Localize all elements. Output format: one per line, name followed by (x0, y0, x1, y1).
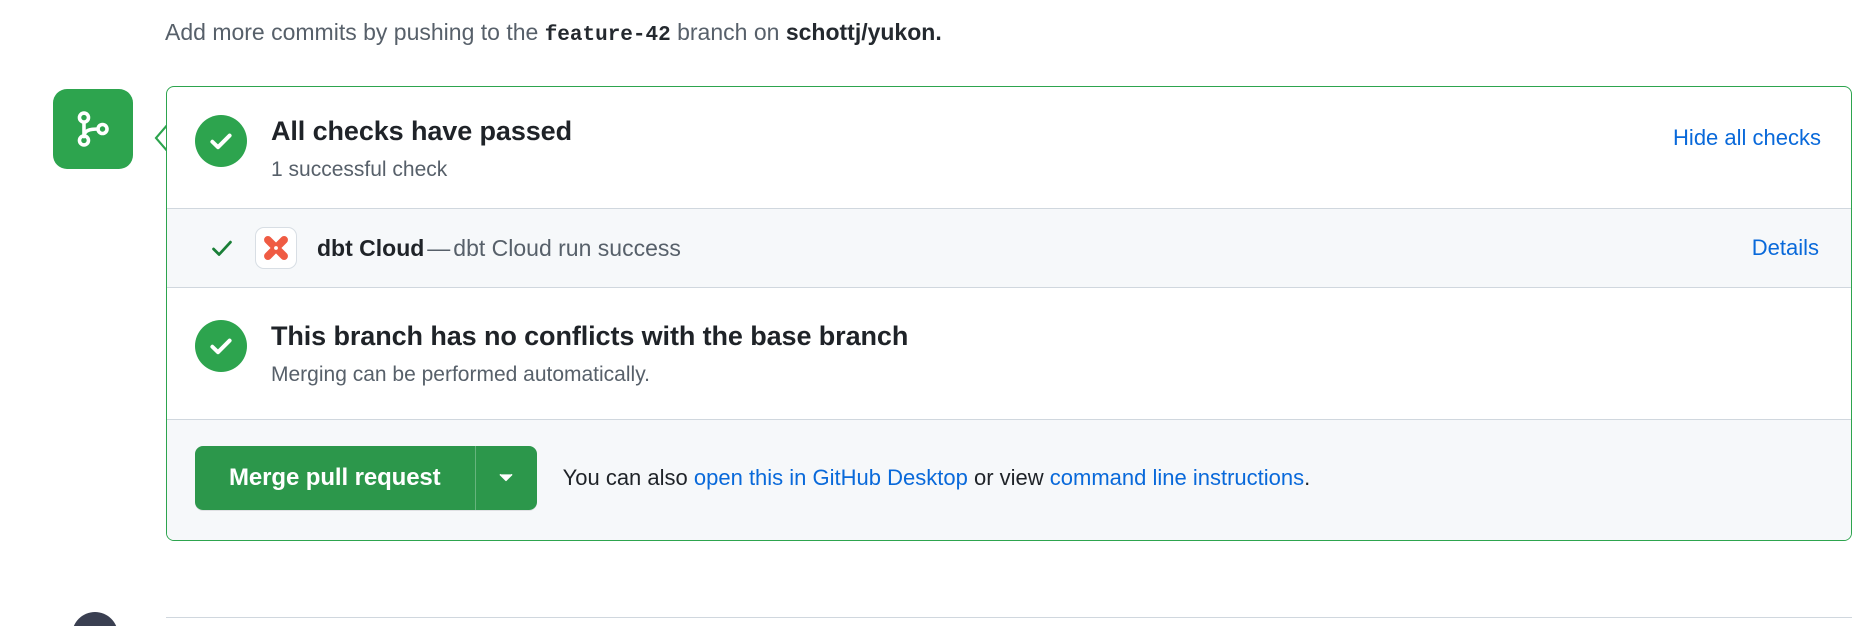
merge-dropdown-button[interactable] (475, 446, 537, 510)
merge-footer: Merge pull request You can also open thi… (167, 419, 1851, 540)
check-row[interactable]: dbt Cloud—dbt Cloud run success Details (167, 208, 1851, 288)
merge-button-group: Merge pull request (195, 446, 537, 510)
check-circle-icon (195, 115, 247, 167)
git-merge-icon (74, 110, 112, 148)
branch-name: feature-42 (545, 24, 671, 47)
repo-name: schottj/yukon (786, 19, 936, 45)
conflicts-title: This branch has no conflicts with the ba… (271, 319, 908, 353)
hint-period: . (935, 19, 941, 45)
check-details-link[interactable]: Details (1752, 235, 1819, 261)
github-desktop-link[interactable]: open this in GitHub Desktop (694, 465, 968, 490)
conflicts-text: This branch has no conflicts with the ba… (271, 318, 908, 389)
checks-title: All checks have passed (271, 114, 572, 148)
dbt-cloud-logo-icon (255, 227, 297, 269)
merge-help-note: You can also open this in GitHub Desktop… (563, 463, 1311, 493)
note-prefix: You can also (563, 465, 688, 490)
command-line-instructions-link[interactable]: command line instructions (1050, 465, 1304, 490)
check-app-name: dbt Cloud (317, 235, 424, 261)
check-description: dbt Cloud run success (453, 235, 681, 261)
add-commits-hint: Add more commits by pushing to the featu… (165, 17, 942, 51)
avatar (72, 612, 118, 626)
check-dash: — (424, 235, 453, 261)
note-period: . (1304, 465, 1310, 490)
hide-all-checks-link[interactable]: Hide all checks (1673, 124, 1821, 152)
check-icon (207, 235, 237, 261)
merge-box: All checks have passed 1 successful chec… (166, 86, 1852, 541)
chevron-down-icon (495, 466, 517, 491)
pull-request-merge-panel: Add more commits by pushing to the featu… (0, 0, 1868, 626)
merge-state-badge (53, 89, 133, 169)
check-label: dbt Cloud—dbt Cloud run success (317, 233, 681, 263)
checks-subtitle: 1 successful check (271, 156, 572, 184)
conflicts-subtitle: Merging can be performed automatically. (271, 361, 908, 389)
merge-pull-request-button[interactable]: Merge pull request (195, 446, 475, 510)
note-middle: or view (974, 465, 1044, 490)
checks-summary-text: All checks have passed 1 successful chec… (271, 113, 572, 184)
checks-summary-header: All checks have passed 1 successful chec… (167, 87, 1851, 208)
check-circle-icon (195, 320, 247, 372)
hint-middle: branch on (677, 19, 779, 45)
hint-prefix: Add more commits by pushing to the (165, 19, 538, 45)
conflicts-section: This branch has no conflicts with the ba… (167, 288, 1851, 419)
timeline-divider (166, 617, 1852, 618)
